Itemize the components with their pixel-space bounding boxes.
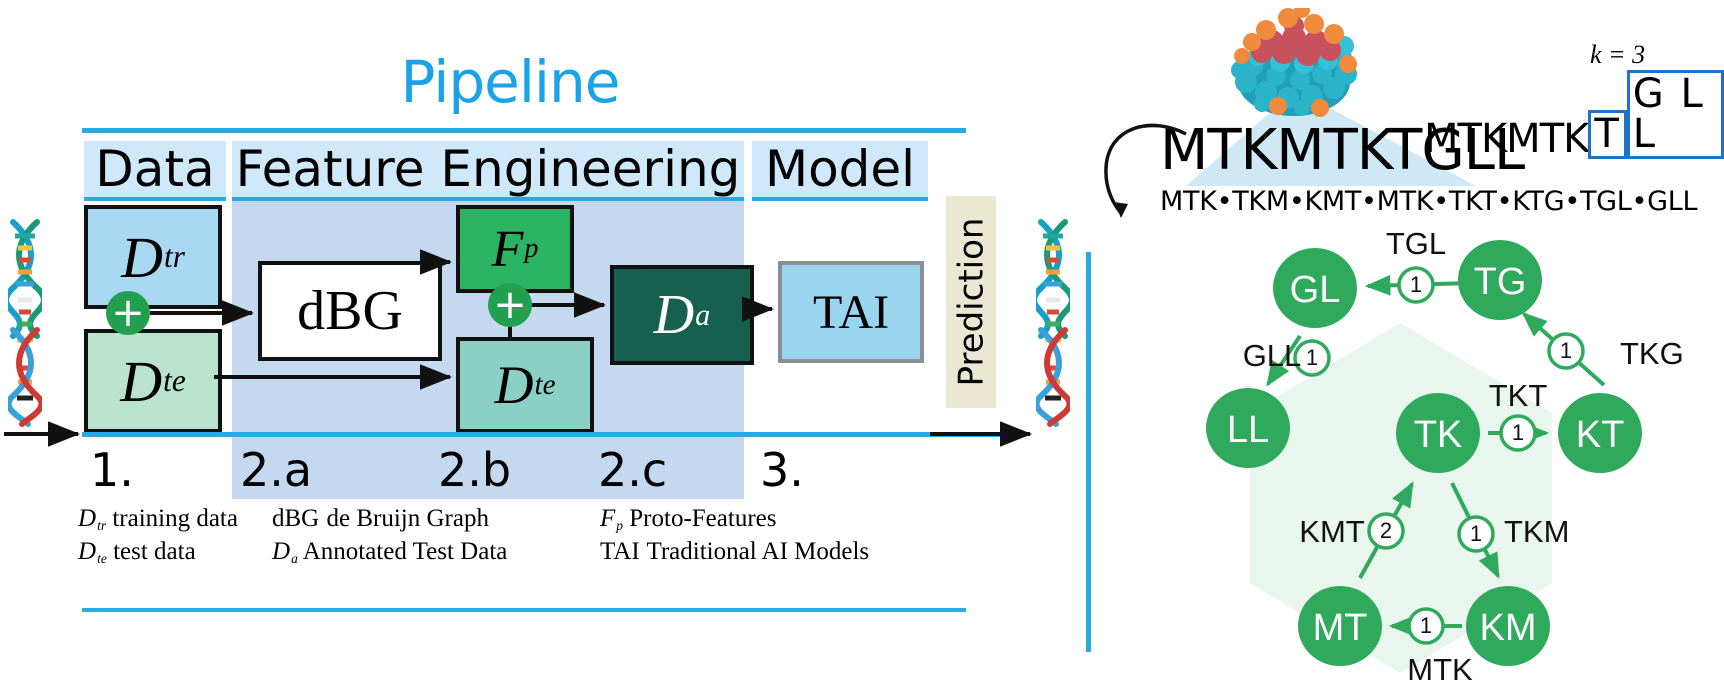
merge-plus-icon-data: + [106, 291, 150, 335]
svg-text:1: 1 [1470, 521, 1482, 546]
box-da-subscript: a [695, 298, 710, 333]
k-value-label: k = 3 [1590, 40, 1645, 70]
edge-label: TKM [1504, 514, 1569, 549]
legend-text: test data [113, 538, 196, 565]
legend-text: Proto-Features [629, 505, 776, 532]
legend-text: Traditional AI Models [646, 538, 869, 565]
svg-text:GL: GL [1290, 269, 1341, 311]
prediction-label: Prediction [951, 218, 991, 387]
legend-symbol-sub: tr [97, 518, 106, 533]
svg-text:2: 2 [1380, 518, 1392, 543]
box-da-base: D [654, 283, 694, 347]
step-number-1: 1. [90, 443, 134, 497]
box-dte-subscript: te [163, 363, 186, 399]
box-dtr-base: D [121, 224, 163, 291]
edge-label: GLL [1243, 338, 1302, 373]
legend-item: dBG de Bruijn Graph [272, 505, 489, 534]
dna-helix-icon [1036, 218, 1070, 428]
legend-item: Dtr training data [78, 505, 238, 534]
loop-arrow-icon [1098, 112, 1188, 222]
legend-item: TAI Traditional AI Models [600, 538, 869, 567]
box-annotated-test-data: Da [610, 265, 754, 365]
protein-structure-icon [1222, 8, 1372, 123]
legend-item: Fp Proto-Features [600, 505, 776, 534]
svg-text:1: 1 [1560, 338, 1572, 363]
legend-text: Annotated Test Data [303, 538, 508, 565]
svg-text:1: 1 [1420, 613, 1432, 638]
legend-symbol: TAI [600, 538, 640, 565]
edge-label: TKT [1489, 378, 1548, 413]
step-number-2a: 2.a [240, 443, 312, 497]
svg-text:KT: KT [1576, 414, 1625, 456]
box-dte2-subscript: te [534, 369, 555, 402]
step-number-2c: 2.c [598, 443, 667, 497]
edge-label: MTK [1407, 652, 1473, 687]
debruijn-graph: 1 1 1 1 1 1 2 TGL GLL TKG TKT TKM KMT MT… [1100, 228, 1724, 696]
kmer-list: MTK•TKM•KMT•MTK•TKT•KTG•TGL•GLL [1160, 186, 1697, 217]
box-dtr-subscript: tr [164, 239, 185, 275]
box-training-data: Dtr [84, 205, 222, 309]
legend-item: Da Annotated Test Data [272, 538, 507, 567]
edge-label: KMT [1299, 514, 1365, 549]
step-number-2b: 2.b [438, 443, 511, 497]
svg-text:MT: MT [1313, 607, 1368, 649]
page-title: Pipeline [330, 48, 690, 116]
box-dte2-base: D [494, 354, 533, 416]
box-test-data-featurized: Dte [456, 337, 594, 433]
panel-divider [1086, 252, 1091, 652]
legend-text: de Bruijn Graph [326, 505, 488, 532]
svg-text:LL: LL [1227, 409, 1269, 451]
legend-symbol: dBG [272, 505, 319, 532]
svg-text:KM: KM [1480, 607, 1537, 649]
kmer-window-rest: G L L [1627, 70, 1724, 159]
legend-symbol: D [272, 538, 290, 565]
pipeline-mid-rule [82, 432, 1026, 437]
prediction-band: Prediction [946, 196, 996, 408]
legend-symbol-sub: a [291, 551, 298, 566]
stage-header-data: Data [84, 141, 226, 201]
legend-symbol: D [78, 505, 96, 532]
box-proto-features: Fp [456, 205, 574, 293]
legend-text: training data [112, 505, 238, 532]
legend-symbol: D [78, 538, 96, 565]
legend-symbol: F [600, 505, 615, 532]
box-dte-base: D [120, 348, 162, 415]
svg-text:1: 1 [1410, 272, 1422, 297]
box-fp-subscript: p [524, 233, 538, 265]
merge-plus-icon-features: + [488, 283, 532, 327]
dna-helix-icon [8, 218, 42, 428]
pipeline-top-rule [82, 128, 966, 133]
svg-text:1: 1 [1512, 420, 1524, 445]
svg-text:TK: TK [1414, 414, 1463, 456]
legend-item: Dte test data [78, 538, 196, 567]
legend-symbol-sub: te [97, 551, 107, 566]
step-number-3: 3. [760, 443, 804, 497]
stage-header-model: Model [752, 141, 928, 201]
edge-label: TGL [1386, 228, 1446, 261]
legend-symbol-sub: p [616, 518, 623, 533]
box-fp-base: F [492, 220, 524, 279]
svg-text:1: 1 [1306, 345, 1318, 370]
box-traditional-ai: TAI [778, 261, 924, 363]
box-test-data: Dte [84, 329, 222, 433]
box-debruijn-graph: dBG [258, 261, 442, 361]
pipeline-bottom-rule [82, 608, 966, 612]
kmer-window-first: T [1588, 110, 1626, 159]
stage-header-feature-engineering: Feature Engineering [232, 141, 744, 201]
svg-text:TG: TG [1474, 261, 1527, 303]
edge-label: TKG [1620, 336, 1684, 371]
full-sequence: MTKMTKTGLL [1160, 118, 1524, 183]
